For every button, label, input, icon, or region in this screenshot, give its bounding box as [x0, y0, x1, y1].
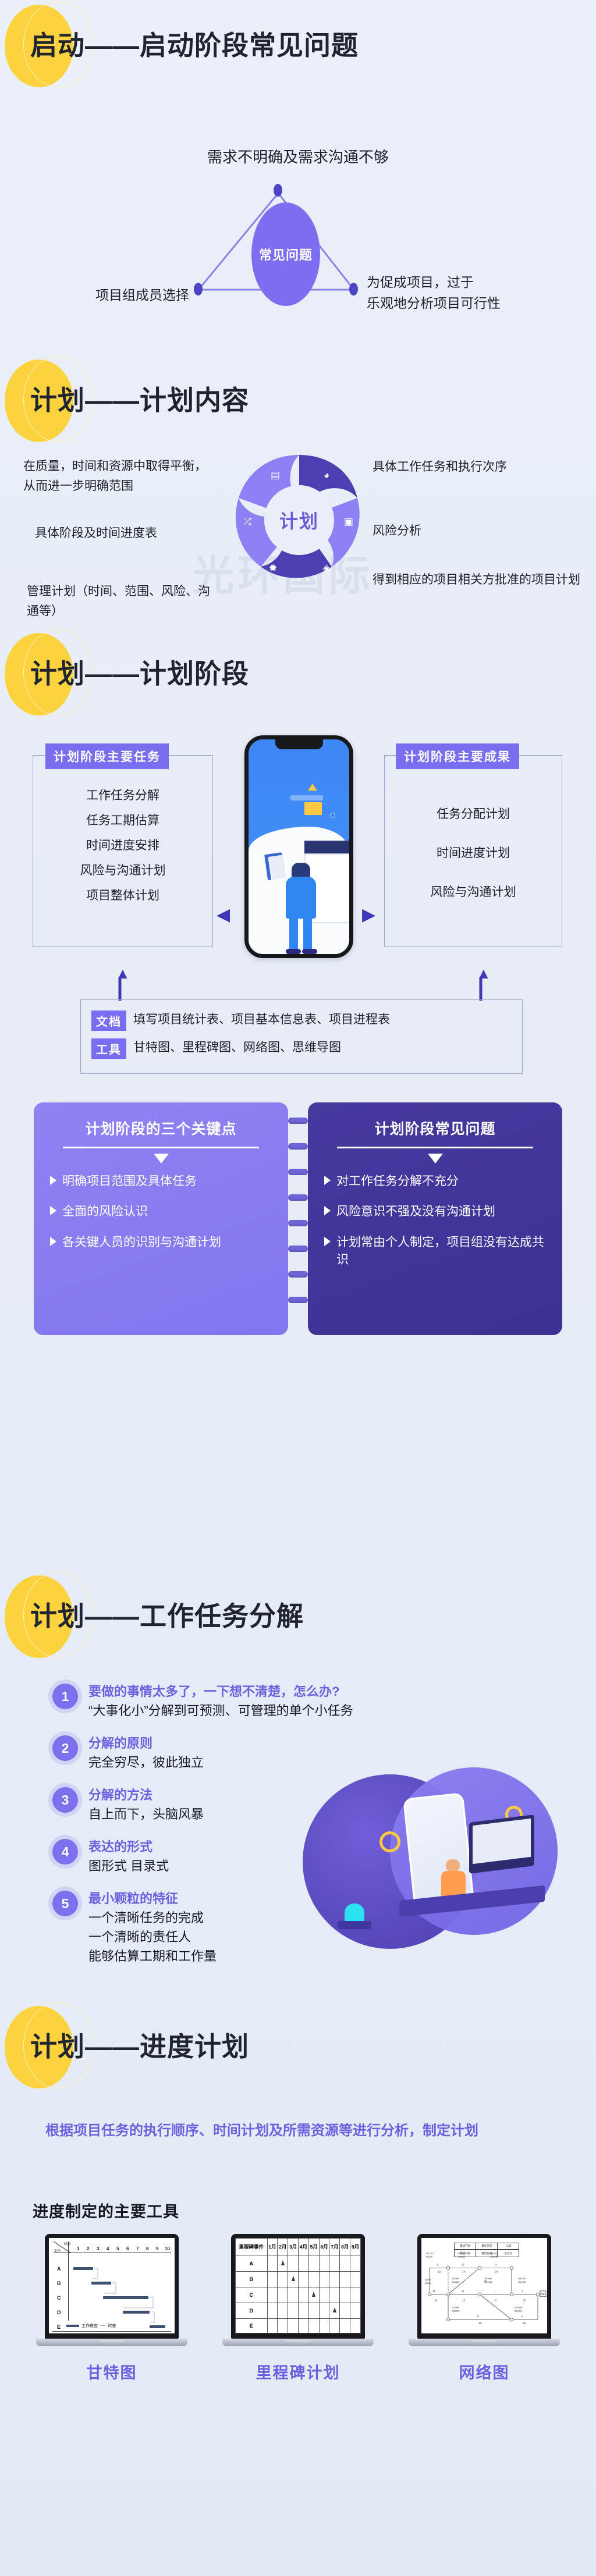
schedule-plan-heading: 计划——进度计划 [0, 2001, 596, 2094]
documents-tools-box: 文档 填写项目统计表、项目基本信息表、项目进程表 工具 甘特图、里程碑图、网络图… [80, 999, 523, 1074]
svg-text:0|26|0: 0|26|0 [425, 2278, 432, 2281]
cell [278, 2271, 288, 2287]
caret-down-icon [428, 1154, 443, 1164]
notebook-comparison: 计划阶段的三个关键点 明确项目范围及具体任务 全面的风险认识 各关键人员的识别与… [34, 1102, 562, 1335]
gantt-legend: 工作进度 ---- 时差 [66, 2323, 116, 2329]
list-item-label: 明确项目范围及具体任务 [62, 1173, 197, 1190]
svg-text:26|66|0: 26|66|0 [452, 2306, 460, 2309]
triangle-node-bottom-right [349, 283, 358, 296]
row-label: D [236, 2303, 268, 2318]
cell [350, 2303, 361, 2318]
table-row: D [236, 2303, 361, 2318]
plan-content-heading: 计划——计划内容 [0, 355, 596, 448]
table-row: B [236, 2271, 361, 2287]
list-item-label: 风险意识不强及没有沟通计划 [336, 1203, 495, 1221]
cell [267, 2255, 278, 2271]
list-item-heading: 最小颗粒的特征 [88, 1889, 217, 1908]
key-points-list: 明确项目范围及具体任务 全面的风险认识 各关键人员的识别与沟通计划 [50, 1173, 272, 1251]
list-item-heading: 要做的事情太多了，一下想不清楚，怎么办? [88, 1682, 353, 1701]
legend-cell: 最迟完成 [476, 2250, 498, 2256]
list-item-content: 最小颗粒的特征 一个清晰任务的完成 一个清晰的责任人 能够估算工期和工作量 [88, 1888, 217, 1966]
cell [278, 2303, 288, 2318]
milestone-marker [308, 2287, 319, 2303]
svg-text:0|26|0: 0|26|0 [425, 2282, 432, 2285]
binding-ring [288, 1118, 308, 1124]
startup-caption-top: 需求不明确及需求沟通不够 [0, 145, 596, 167]
binding-ring [288, 1194, 308, 1201]
left-task-list: 工作任务分解 任务工期估算 时间进度安排 风险与沟通计划 项目整体计划 [33, 783, 213, 908]
section-plan-phase: 计划——计划阶段 计划阶段主要任务 工作任务分解 任务工 [0, 628, 596, 1210]
infographic-page: 启动——启动阶段常见问题 需求不明确及需求沟通不够 常见问题 项目组成员选择 为… [0, 0, 596, 2576]
svg-text:26|38|0: 26|38|0 [452, 2280, 460, 2283]
list-item: 计划常由个人制定，项目组没有达成共识 [324, 1234, 546, 1269]
cell [329, 2271, 340, 2287]
cell [319, 2319, 329, 2333]
table-row: A [236, 2255, 361, 2271]
divider [337, 1147, 533, 1148]
gantt-bottom-rule [52, 2331, 171, 2332]
cell [288, 2255, 299, 2271]
list-item-content: 分解的方法 自上而下，头脑风暴 [88, 1785, 204, 1824]
binding-ring [288, 1169, 308, 1175]
column-header: 9月 [350, 2239, 361, 2255]
documents-text: 填写项目统计表、项目基本信息表、项目进程表 [133, 1011, 390, 1028]
laptop-screen: 时间 工作 1 2 3 4 5 6 7 [49, 2238, 175, 2333]
cell [319, 2255, 329, 2271]
binding-ring [288, 1271, 308, 1278]
cell [267, 2303, 278, 2318]
cell [319, 2271, 329, 2287]
svg-text:38|46|0: 38|46|0 [484, 2280, 492, 2283]
bullet-triangle-icon [324, 1206, 331, 1215]
page-title-plan-content: 计划——计划内容 [30, 379, 249, 418]
list-item-content: 表达的形式 图形式 目录式 [88, 1837, 169, 1876]
chart-document-icon: ▤ [268, 468, 283, 483]
svg-text:F: F [477, 2315, 479, 2318]
column-header: 1月 [267, 2239, 278, 2255]
caret-down-icon [154, 1154, 169, 1164]
cell [340, 2287, 350, 2303]
section-plan-content: 计划——计划内容 光环国际 计划 ▤ ◕ ▣ ◈ ✹ ⤮ [0, 355, 596, 628]
plan-phase-heading: 计划——计划阶段 [0, 628, 596, 721]
step-number-badge: 2 [52, 1735, 78, 1761]
cell [319, 2287, 329, 2303]
right-result-item: 任务分配计划 [384, 795, 562, 834]
legend-dash-icon: ---- [100, 2324, 105, 2328]
svg-text:H: H [495, 2263, 497, 2267]
cell [308, 2303, 319, 2318]
cell [267, 2287, 278, 2303]
page-title-task-decomposition: 计划——工作任务分解 [30, 1595, 304, 1634]
laptop-screen: 最早开始 最早完成 工期 最迟开始 最迟完成 总浮动 [421, 2238, 547, 2333]
right-panel-badge: 计划阶段主要成果 [396, 743, 519, 769]
right-result-item: 时间进度计划 [384, 834, 562, 873]
arrow-left-icon: ◀ [217, 906, 230, 924]
list-item: 2 分解的原则 完全穷尽，彼此独立 [52, 1733, 378, 1772]
bullet-triangle-icon [50, 1176, 56, 1185]
row-label: E [236, 2319, 268, 2333]
network-diagram: 最早开始 最早完成 工期 最迟开始 最迟完成 总浮动 [421, 2238, 547, 2333]
svg-text:0|12|12: 0|12|12 [426, 2252, 434, 2255]
bullet-triangle-icon [50, 1237, 56, 1246]
layers-icon: ◈ [319, 561, 334, 576]
svg-text:0|12|0: 0|12|0 [426, 2255, 433, 2258]
laptop-base [409, 2339, 560, 2346]
laptop-base [36, 2339, 187, 2346]
laptop-mockup: 最早开始 最早完成 工期 最迟开始 最迟完成 总浮动 [409, 2234, 560, 2346]
startup-heading: 启动——启动阶段常见问题 [0, 0, 596, 93]
cell [298, 2303, 308, 2318]
laptop-mockup: 里程碑事件 1月 2月 3月 4月 5月 6月 7月 8月 9月 [222, 2234, 374, 2346]
list-item: 全面的风险认识 [50, 1203, 272, 1221]
phone-illustration [244, 735, 353, 958]
bullet-triangle-icon [324, 1176, 331, 1185]
list-item-content: 分解的原则 完全穷尽，彼此独立 [88, 1733, 204, 1772]
list-item: 各关键人员的识别与沟通计划 [50, 1234, 272, 1251]
list-item-body-line2: 一个清晰的责任人 [88, 1927, 217, 1947]
cell [308, 2319, 319, 2333]
arrow-up-left-icon: ▲ [115, 965, 130, 983]
svg-text:K: K [521, 2315, 524, 2318]
cell [308, 2255, 319, 2271]
startup-caption-left: 项目组成员选择 [23, 284, 189, 304]
ring-icon [379, 1831, 400, 1852]
cell [298, 2255, 308, 2271]
column-header: 6月 [319, 2239, 329, 2255]
envelope-icon [304, 802, 322, 815]
list-item-label: 各关键人员的识别与沟通计划 [62, 1234, 221, 1251]
legend-cell: 工期 [498, 2243, 519, 2249]
cell [278, 2287, 288, 2303]
common-problems-label: 常见问题 [259, 245, 313, 264]
tools-row: 工具 甘特图、里程碑图、网络图、思维导图 [91, 1038, 341, 1059]
list-item-body: 完全穷尽，彼此独立 [88, 1753, 204, 1772]
startup-triangle-diagram: 常见问题 项目组成员选择 为促成项目，过于 乐观地分析项目可行性 [0, 175, 596, 320]
svg-text:26: 26 [434, 2299, 438, 2303]
common-problems-node: 常见问题 [251, 202, 320, 306]
person-head [446, 1859, 460, 1872]
step-number-badge: 3 [52, 1787, 78, 1813]
right-result-item: 风险与沟通计划 [384, 873, 562, 912]
plan-content-left-item-2: 具体阶段及时间进度表 [35, 524, 210, 543]
svg-text:26|66|0: 26|66|0 [452, 2309, 460, 2312]
gantt-dependency-links [49, 2238, 175, 2333]
cell [298, 2319, 308, 2333]
startup-caption-right-line1: 为促成项目，过于 [367, 272, 582, 293]
laptop-screen: 里程碑事件 1月 2月 3月 4月 5月 6月 7月 8月 9月 [235, 2238, 361, 2333]
binding-ring [288, 1220, 308, 1226]
svg-text:24: 24 [495, 2270, 498, 2273]
tools-section-title: 进度制定的主要工具 [33, 2199, 179, 2222]
svg-text:46|78|0: 46|78|0 [518, 2277, 526, 2280]
table-header-row: 里程碑事件 1月 2月 3月 4月 5月 6月 7月 8月 9月 [236, 2239, 361, 2255]
plan-content-right-item-2: 风险分析 [372, 521, 588, 541]
column-header: 4月 [298, 2239, 308, 2255]
legend-cell: 最迟开始 [455, 2250, 476, 2256]
svg-text:J: J [521, 2290, 523, 2293]
milestone-marker [329, 2303, 340, 2318]
cell [278, 2319, 288, 2333]
documents-row: 文档 填写项目统计表、项目基本信息表、项目进程表 [91, 1011, 390, 1031]
list-item-body: 图形式 目录式 [88, 1856, 169, 1876]
pinwheel-center-label: 计划 [279, 507, 319, 533]
section-schedule-plan: 计划——进度计划 根据项目任务的执行顺序、时间计划及所需资源等进行分析，制定计划… [0, 2001, 596, 2576]
monitor-screen [473, 1819, 531, 1864]
legend-label-progress: 工作进度 [81, 2323, 98, 2329]
svg-text:98: 98 [541, 2293, 545, 2296]
tool-card-network: 最早开始 最早完成 工期 最迟开始 最迟完成 总浮动 [409, 2234, 560, 2383]
left-task-item: 项目整体计划 [33, 883, 213, 908]
decomposition-numbered-list: 1 要做的事情太多了，一下想不清楚，怎么办? “大事化小”分解到可预测、可管理的… [52, 1681, 378, 1979]
tool-card-milestone: 里程碑事件 1月 2月 3月 4月 5月 6月 7月 8月 9月 [222, 2234, 374, 2383]
bullet-triangle-icon [50, 1206, 56, 1215]
circle-dot-decoration [330, 813, 335, 818]
list-item-content: 要做的事情太多了，一下想不清楚，怎么办? “大事化小”分解到可预测、可管理的单个… [88, 1681, 353, 1720]
notebook-binding-rings [288, 1115, 308, 1322]
list-item-heading: 表达的形式 [88, 1837, 169, 1856]
cell [350, 2287, 361, 2303]
svg-text:66|82|0: 66|82|0 [515, 2306, 523, 2309]
gantt-chart: 时间 工作 1 2 3 4 5 6 7 [49, 2238, 175, 2333]
list-item: 风险意识不强及没有沟通计划 [324, 1203, 546, 1221]
legend-label-float: 时差 [108, 2323, 116, 2329]
cell [267, 2319, 278, 2333]
cell [298, 2287, 308, 2303]
key-points-card: 计划阶段的三个关键点 明确项目范围及具体任务 全面的风险认识 各关键人员的识别与… [34, 1102, 288, 1335]
person-leg-left [289, 916, 298, 952]
svg-text:B: B [433, 2290, 435, 2293]
plan-content-right-item-3: 得到相应的项目相关方批准的项目计划 [372, 570, 588, 590]
svg-text:A: A [437, 2263, 439, 2267]
legend-cell: 最早完成 [476, 2243, 498, 2249]
list-item-body-line1: 一个清晰任务的完成 [88, 1908, 217, 1927]
table-row: C [236, 2287, 361, 2303]
legend-cell: 总浮动 [498, 2250, 519, 2256]
step-number-badge: 5 [52, 1891, 78, 1916]
arrow-right-icon: ▶ [362, 906, 375, 924]
right-result-list: 任务分配计划 时间进度计划 风险与沟通计划 [384, 795, 562, 912]
svg-text:14: 14 [462, 2270, 466, 2273]
binding-ring [288, 1143, 308, 1150]
svg-text:26|38|0: 26|38|0 [452, 2277, 460, 2280]
row-label: A [236, 2255, 268, 2271]
binding-ring [288, 1297, 308, 1303]
section-startup: 启动——启动阶段常见问题 需求不明确及需求沟通不够 常见问题 项目组成员选择 为… [0, 0, 596, 355]
tool-card-gantt: 时间 工作 1 2 3 4 5 6 7 [36, 2234, 187, 2383]
shuffle-arrows-icon: ⤮ [240, 514, 255, 529]
column-header: 2月 [278, 2239, 288, 2255]
row-label: B [236, 2271, 268, 2287]
milestone-marker [278, 2255, 288, 2271]
bullet-triangle-icon [324, 1237, 331, 1246]
left-task-item: 风险与沟通计划 [33, 858, 213, 883]
arrow-up-right-icon: ▲ [476, 965, 491, 983]
list-item: 明确项目范围及具体任务 [50, 1173, 272, 1190]
column-header: 3月 [288, 2239, 299, 2255]
cell [288, 2303, 299, 2318]
column-header: 5月 [308, 2239, 319, 2255]
list-item: 4 表达的形式 图形式 目录式 [52, 1837, 378, 1876]
left-panel-badge: 计划阶段主要任务 [45, 743, 169, 769]
triangle-node-bottom-left [194, 283, 203, 296]
list-item: 对工作任务分解不充分 [324, 1173, 546, 1190]
cell [298, 2271, 308, 2287]
legend-cell: 最早开始 [455, 2243, 476, 2249]
clock-icon: ◕ [319, 468, 334, 483]
tools-tag: 工具 [91, 1038, 126, 1059]
cell [340, 2303, 350, 2318]
svg-text:16: 16 [523, 2322, 526, 2325]
list-item-body: 自上而下，头脑风暴 [88, 1805, 204, 1824]
plan-content-left-item-3: 管理计划（时间、范围、风险、沟通等） [27, 582, 213, 621]
tool-card-label-gantt: 甘特图 [36, 2360, 187, 2383]
person-leg-right [303, 916, 312, 952]
cell [350, 2319, 361, 2333]
milestone-table: 里程碑事件 1月 2月 3月 4月 5月 6月 7月 8月 9月 [235, 2238, 361, 2333]
svg-text:E: E [462, 2290, 464, 2293]
step-number-badge: 1 [52, 1684, 78, 1709]
phone-notch [275, 739, 323, 749]
svg-text:38|46|0: 38|46|0 [484, 2277, 492, 2280]
page-title-startup: 启动——启动阶段常见问题 [30, 24, 359, 63]
row-label: C [236, 2287, 268, 2303]
person-shoe-right [302, 949, 317, 954]
cell [329, 2255, 340, 2271]
task-decomposition-heading: 计划——工作任务分解 [0, 1571, 596, 1664]
phone-card-shape [290, 795, 323, 800]
svg-text:46|78|0: 46|78|0 [518, 2280, 526, 2283]
laptop-screen-bezel: 里程碑事件 1月 2月 3月 4月 5月 6月 7月 8月 9月 [231, 2234, 365, 2339]
cell [329, 2287, 340, 2303]
schedule-plan-lead-text: 根据项目任务的执行顺序、时间计划及所需资源等进行分析，制定计划 [45, 2118, 558, 2145]
tool-card-label-milestone: 里程碑计划 [222, 2360, 374, 2383]
documents-tag: 文档 [91, 1011, 126, 1031]
list-item: 3 分解的方法 自上而下，头脑风暴 [52, 1785, 378, 1824]
svg-text:12: 12 [438, 2270, 441, 2273]
cell [340, 2319, 350, 2333]
svg-text:66|82|0: 66|82|0 [515, 2309, 523, 2312]
list-item-heading: 分解的方法 [88, 1785, 204, 1805]
list-item-body: “大事化小”分解到可预测、可管理的单个小任务 [88, 1701, 353, 1720]
list-item: 1 要做的事情太多了，一下想不清楚，怎么办? “大事化小”分解到可预测、可管理的… [52, 1681, 378, 1720]
tool-card-label-network: 网络图 [409, 2360, 560, 2383]
plan-content-left-item-1: 在质量，时间和资源中取得平衡，从而进一步明确范围 [23, 457, 215, 496]
cell [267, 2271, 278, 2287]
gear-person-icon: ✹ [265, 561, 281, 576]
common-problems-card: 计划阶段常见问题 对工作任务分解不充分 风险意识不强及没有沟通计划 计划常由个人… [308, 1102, 562, 1335]
milestone-marker [288, 2271, 299, 2287]
column-header: 7月 [329, 2239, 340, 2255]
cell [350, 2255, 361, 2271]
section-task-decomposition: 计划——工作任务分解 1 要做的事情太多了，一下想不清楚，怎么办? “大事化小”… [0, 1571, 596, 2001]
key-points-title: 计划阶段的三个关键点 [50, 1118, 272, 1138]
startup-caption-right: 为促成项目，过于 乐观地分析项目可行性 [367, 272, 582, 314]
laptop-base [222, 2339, 374, 2346]
startup-caption-right-line2: 乐观地分析项目可行性 [367, 293, 582, 314]
table-row: E [236, 2319, 361, 2333]
page-title-plan-phase: 计划——计划阶段 [30, 653, 249, 691]
plan-pinwheel-graphic: 计划 ▤ ◕ ▣ ◈ ✹ ⤮ [232, 453, 367, 588]
laptop-mockup: 时间 工作 1 2 3 4 5 6 7 [36, 2234, 187, 2346]
book-pages-icon [268, 855, 286, 880]
svg-text:I: I [495, 2290, 495, 2293]
person-body [286, 877, 316, 919]
star-icon [308, 784, 317, 791]
cell [350, 2271, 361, 2287]
laptop-screen-bezel: 时间 工作 1 2 3 4 5 6 7 [45, 2234, 179, 2339]
svg-text:12: 12 [462, 2299, 466, 2303]
page-title-schedule-plan: 计划——进度计划 [30, 2026, 249, 2064]
column-header: 8月 [340, 2239, 350, 2255]
cell [319, 2303, 329, 2318]
legend-row-bottom: 最迟开始 最迟完成 总浮动 [454, 2250, 519, 2257]
list-item: 5 最小颗粒的特征 一个清晰任务的完成 一个清晰的责任人 能够估算工期和工作量 [52, 1888, 378, 1966]
svg-text:8: 8 [495, 2299, 496, 2303]
clipboard-icon: ▣ [341, 514, 356, 529]
cell [340, 2255, 350, 2271]
person-shoe-left [286, 949, 301, 954]
left-task-item: 时间进度安排 [33, 833, 213, 858]
common-problems-title: 计划阶段常见问题 [324, 1118, 546, 1138]
list-item-heading: 分解的原则 [88, 1734, 204, 1753]
cell [288, 2319, 299, 2333]
cell [308, 2271, 319, 2287]
laptop-screen-bezel: 最早开始 最早完成 工期 最迟开始 最迟完成 总浮动 [417, 2234, 551, 2339]
legend-row-top: 最早开始 最早完成 工期 [454, 2243, 519, 2250]
list-item-body-line3: 能够估算工期和工作量 [88, 1947, 217, 1966]
binding-ring [288, 1246, 308, 1252]
tools-text: 甘特图、里程碑图、网络图、思维导图 [133, 1038, 341, 1056]
triangle-node-top [274, 184, 282, 197]
pinwheel-center: 计划 [264, 485, 334, 555]
milestone-corner-header: 里程碑事件 [236, 2239, 268, 2255]
common-problems-list: 对工作任务分解不充分 风险意识不强及没有沟通计划 计划常由个人制定，项目组没有达… [324, 1173, 546, 1269]
left-task-item: 工作任务分解 [33, 783, 213, 808]
plan-content-right-item-1: 具体工作任务和执行次序 [372, 457, 588, 477]
left-task-item: 任务工期估算 [33, 808, 213, 833]
cell [288, 2287, 299, 2303]
network-legend-table: 最早开始 最早完成 工期 最迟开始 最迟完成 总浮动 [454, 2243, 519, 2257]
svg-text:40: 40 [478, 2322, 482, 2325]
svg-text:32: 32 [523, 2299, 526, 2303]
list-item-label: 对工作任务分解不充分 [336, 1173, 459, 1190]
divider [63, 1147, 259, 1148]
tool-cards: 时间 工作 1 2 3 4 5 6 7 [0, 2234, 596, 2383]
list-item-label: 计划常由个人制定，项目组没有达成共识 [336, 1234, 546, 1269]
legend-swatch [66, 2325, 79, 2327]
step-number-badge: 4 [52, 1839, 78, 1865]
cell [340, 2271, 350, 2287]
svg-text:C: C [462, 2263, 464, 2267]
list-item-label: 全面的风险认识 [62, 1203, 148, 1221]
cell [329, 2319, 340, 2333]
